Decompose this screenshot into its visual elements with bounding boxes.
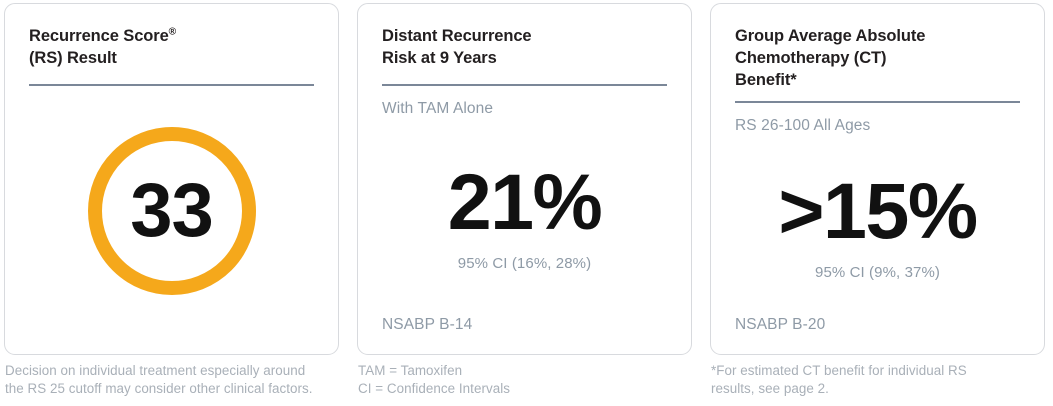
chemotherapy-benefit-title: Group Average Absolute Chemotherapy (CT)…: [735, 26, 1020, 92]
distant-recurrence-subtitle: With TAM Alone: [382, 100, 667, 119]
distant-recurrence-footnote: TAM = Tamoxifen CI = Confidence Interval…: [357, 362, 692, 397]
distant-recurrence-footnote-line2: CI = Confidence Intervals: [358, 380, 692, 398]
distant-recurrence-divider: [382, 84, 667, 86]
distant-recurrence-trial: NSABP B-14: [382, 316, 667, 334]
chemotherapy-benefit-value-wrap: >15% 95% CI (9%, 37%): [735, 135, 1020, 316]
recurrence-score-footnote-line1: Decision on individual treatment especia…: [5, 362, 339, 380]
chemotherapy-benefit-footnote: *For estimated CT benefit for individual…: [710, 362, 1045, 397]
chemotherapy-benefit-card: Group Average Absolute Chemotherapy (CT)…: [710, 3, 1045, 355]
chemotherapy-benefit-title-line2: Chemotherapy (CT): [735, 49, 886, 67]
distant-recurrence-value: 21%: [448, 162, 602, 241]
distant-recurrence-card: Distant Recurrence Risk at 9 Years With …: [357, 3, 692, 355]
chemotherapy-benefit-footnote-line1: *For estimated CT benefit for individual…: [711, 362, 1045, 380]
distant-recurrence-value-wrap: 21% 95% CI (16%, 28%): [382, 118, 667, 316]
distant-recurrence-confidence-interval: 95% CI (16%, 28%): [458, 255, 591, 272]
chemotherapy-benefit-title-line3: Benefit*: [735, 71, 797, 89]
chemotherapy-benefit-confidence-interval: 95% CI (9%, 37%): [815, 264, 940, 281]
chemotherapy-benefit-trial: NSABP B-20: [735, 316, 1020, 334]
recurrence-score-card: Recurrence Score® (RS) Result 33: [4, 3, 339, 355]
score-ring-icon: 33: [88, 127, 256, 295]
distant-recurrence-footnote-line1: TAM = Tamoxifen: [358, 362, 692, 380]
chemotherapy-benefit-footnote-line2: results, see page 2.: [711, 380, 1045, 398]
recurrence-score-footnote-line2: the RS 25 cutoff may consider other clin…: [5, 380, 339, 398]
oncotype-results-board: Recurrence Score® (RS) Result 33 Decisio…: [0, 0, 1053, 406]
recurrence-score-footnote: Decision on individual treatment especia…: [4, 362, 339, 397]
recurrence-score-ring-wrap: 33: [29, 86, 314, 336]
chemotherapy-benefit-value: >15%: [778, 171, 976, 250]
registered-trademark-icon: ®: [169, 27, 176, 38]
recurrence-score-title: Recurrence Score® (RS) Result: [29, 26, 314, 70]
chemotherapy-benefit-divider: [735, 101, 1020, 103]
recurrence-score-title-line1: Recurrence Score: [29, 27, 169, 45]
distant-recurrence-title-line1: Distant Recurrence: [382, 27, 532, 45]
chemotherapy-benefit-column: Group Average Absolute Chemotherapy (CT)…: [710, 3, 1045, 406]
chemotherapy-benefit-title-line1: Group Average Absolute: [735, 27, 925, 45]
distant-recurrence-column: Distant Recurrence Risk at 9 Years With …: [357, 3, 692, 406]
recurrence-score-column: Recurrence Score® (RS) Result 33 Decisio…: [4, 3, 339, 406]
chemotherapy-benefit-subtitle: RS 26-100 All Ages: [735, 117, 1020, 136]
recurrence-score-title-line2: (RS) Result: [29, 49, 117, 67]
distant-recurrence-title: Distant Recurrence Risk at 9 Years: [382, 26, 667, 70]
distant-recurrence-title-line2: Risk at 9 Years: [382, 49, 497, 67]
recurrence-score-value: 33: [130, 173, 213, 249]
